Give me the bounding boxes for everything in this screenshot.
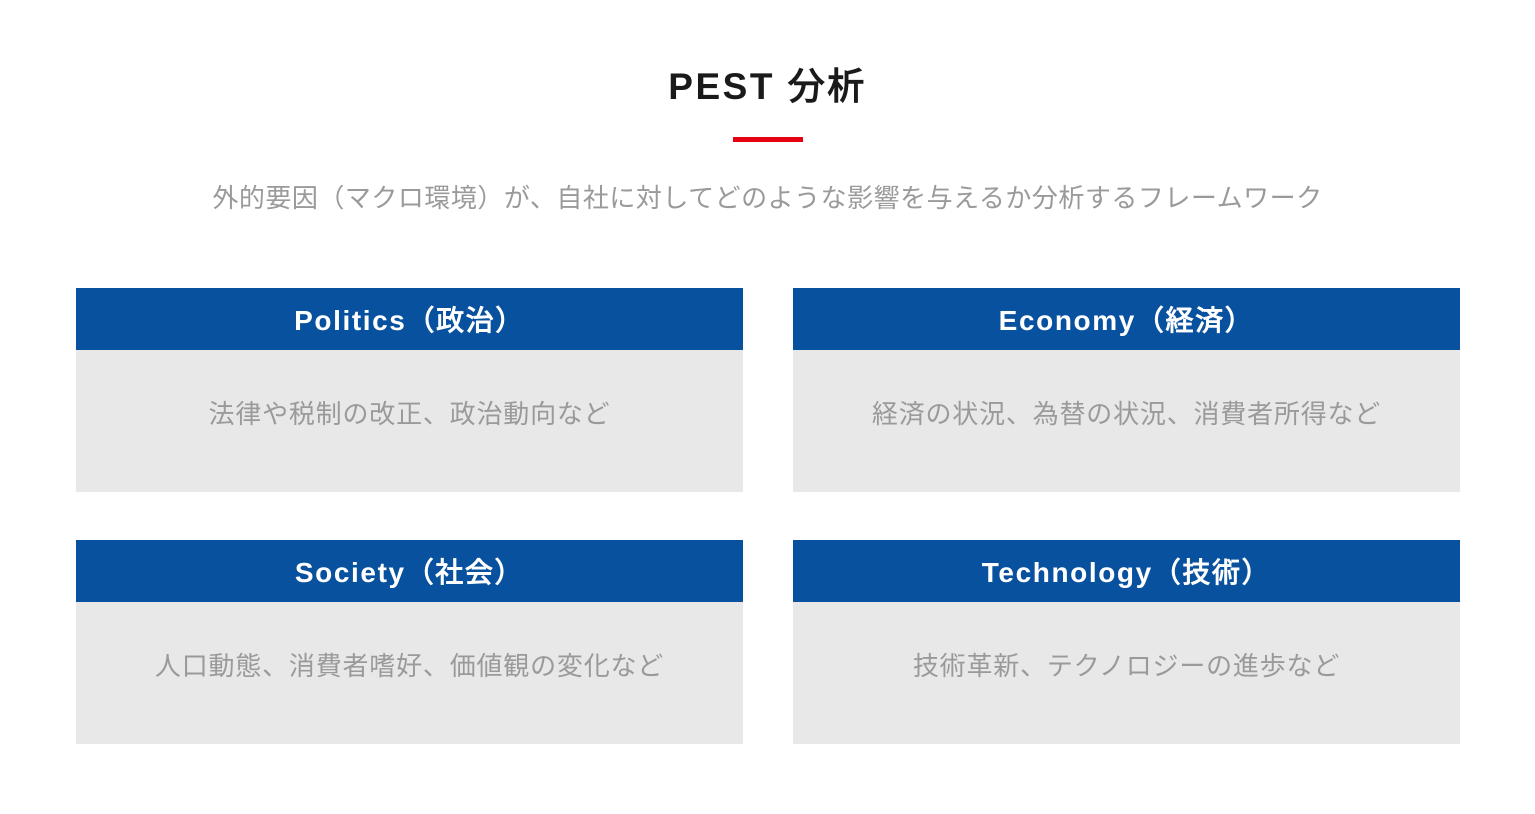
card-politics-body: 法律や税制の改正、政治動向など xyxy=(76,350,743,492)
card-society-body-text: 人口動態、消費者嗜好、価値観の変化など xyxy=(155,648,664,684)
page-title: PEST 分析 xyxy=(0,0,1535,110)
pest-card-grid: Politics（政治） 法律や税制の改正、政治動向など Economy（経済）… xyxy=(76,288,1460,744)
card-economy-header: Economy（経済） xyxy=(793,288,1460,350)
card-technology: Technology（技術） 技術革新、テクノロジーの進歩など xyxy=(793,540,1460,744)
card-politics: Politics（政治） 法律や税制の改正、政治動向など xyxy=(76,288,743,492)
card-technology-body: 技術革新、テクノロジーの進歩など xyxy=(793,602,1460,744)
pest-analysis-page: PEST 分析 外的要因（マクロ環境）が、自社に対してどのような影響を与えるか分… xyxy=(0,0,1535,814)
card-society-header: Society（社会） xyxy=(76,540,743,602)
card-politics-header: Politics（政治） xyxy=(76,288,743,350)
card-economy-body-text: 経済の状況、為替の状況、消費者所得など xyxy=(872,396,1381,432)
card-economy-body: 経済の状況、為替の状況、消費者所得など xyxy=(793,350,1460,492)
card-society-body: 人口動態、消費者嗜好、価値観の変化など xyxy=(76,602,743,744)
card-society: Society（社会） 人口動態、消費者嗜好、価値観の変化など xyxy=(76,540,743,744)
card-technology-header: Technology（技術） xyxy=(793,540,1460,602)
page-header: PEST 分析 外的要因（マクロ環境）が、自社に対してどのような影響を与えるか分… xyxy=(0,0,1535,218)
page-subtitle: 外的要因（マクロ環境）が、自社に対してどのような影響を与えるか分析するフレームワ… xyxy=(0,142,1535,218)
card-politics-body-text: 法律や税制の改正、政治動向など xyxy=(208,396,610,432)
card-technology-body-text: 技術革新、テクノロジーの進歩など xyxy=(913,648,1340,684)
card-economy: Economy（経済） 経済の状況、為替の状況、消費者所得など xyxy=(793,288,1460,492)
